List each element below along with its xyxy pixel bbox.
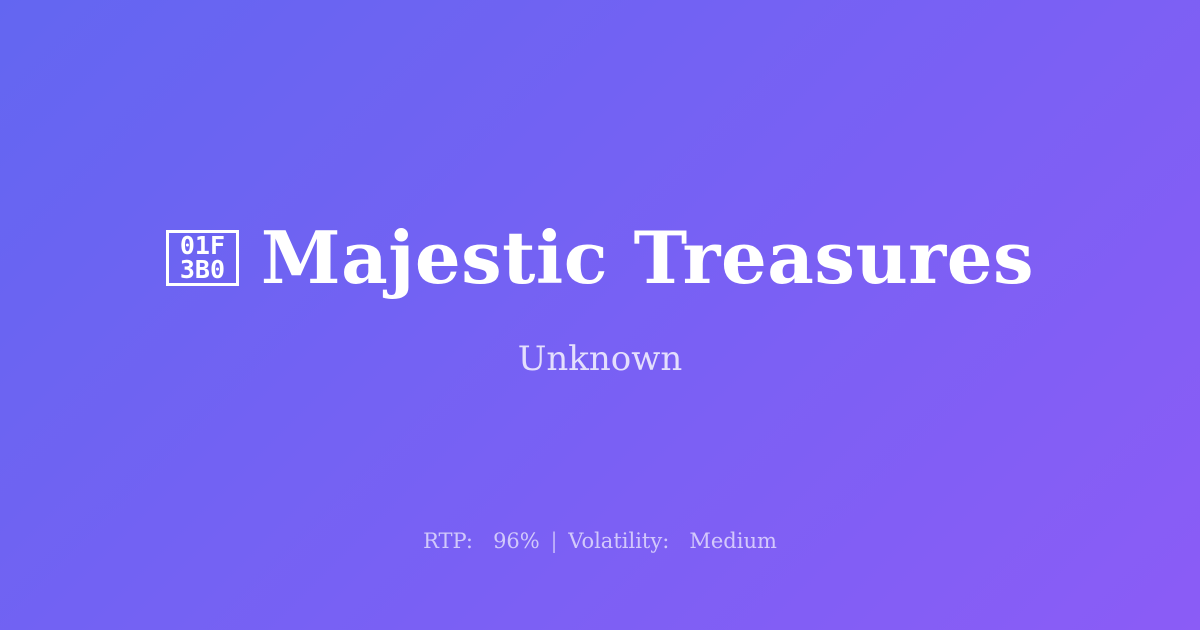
provider-subtitle: Unknown [518, 342, 683, 376]
page-title: Majestic Treasures [261, 222, 1034, 294]
slot-machine-icon: 01F 3B0 [166, 230, 239, 286]
rtp-value: 96% [493, 529, 540, 553]
title-row: 01F 3B0 Majestic Treasures [166, 222, 1034, 294]
volatility-label: Volatility: [568, 529, 669, 553]
meta-separator: | [546, 529, 561, 553]
volatility-value: Medium [689, 529, 777, 553]
tofu-codepoint-row-bottom: 3B0 [180, 258, 225, 282]
rtp-label: RTP: [423, 529, 473, 553]
game-meta-line: RTP: 96% | Volatility: Medium [0, 531, 1200, 552]
og-preview-card: 01F 3B0 Majestic Treasures Unknown RTP: … [0, 0, 1200, 630]
hero-block: 01F 3B0 Majestic Treasures Unknown [0, 222, 1200, 376]
